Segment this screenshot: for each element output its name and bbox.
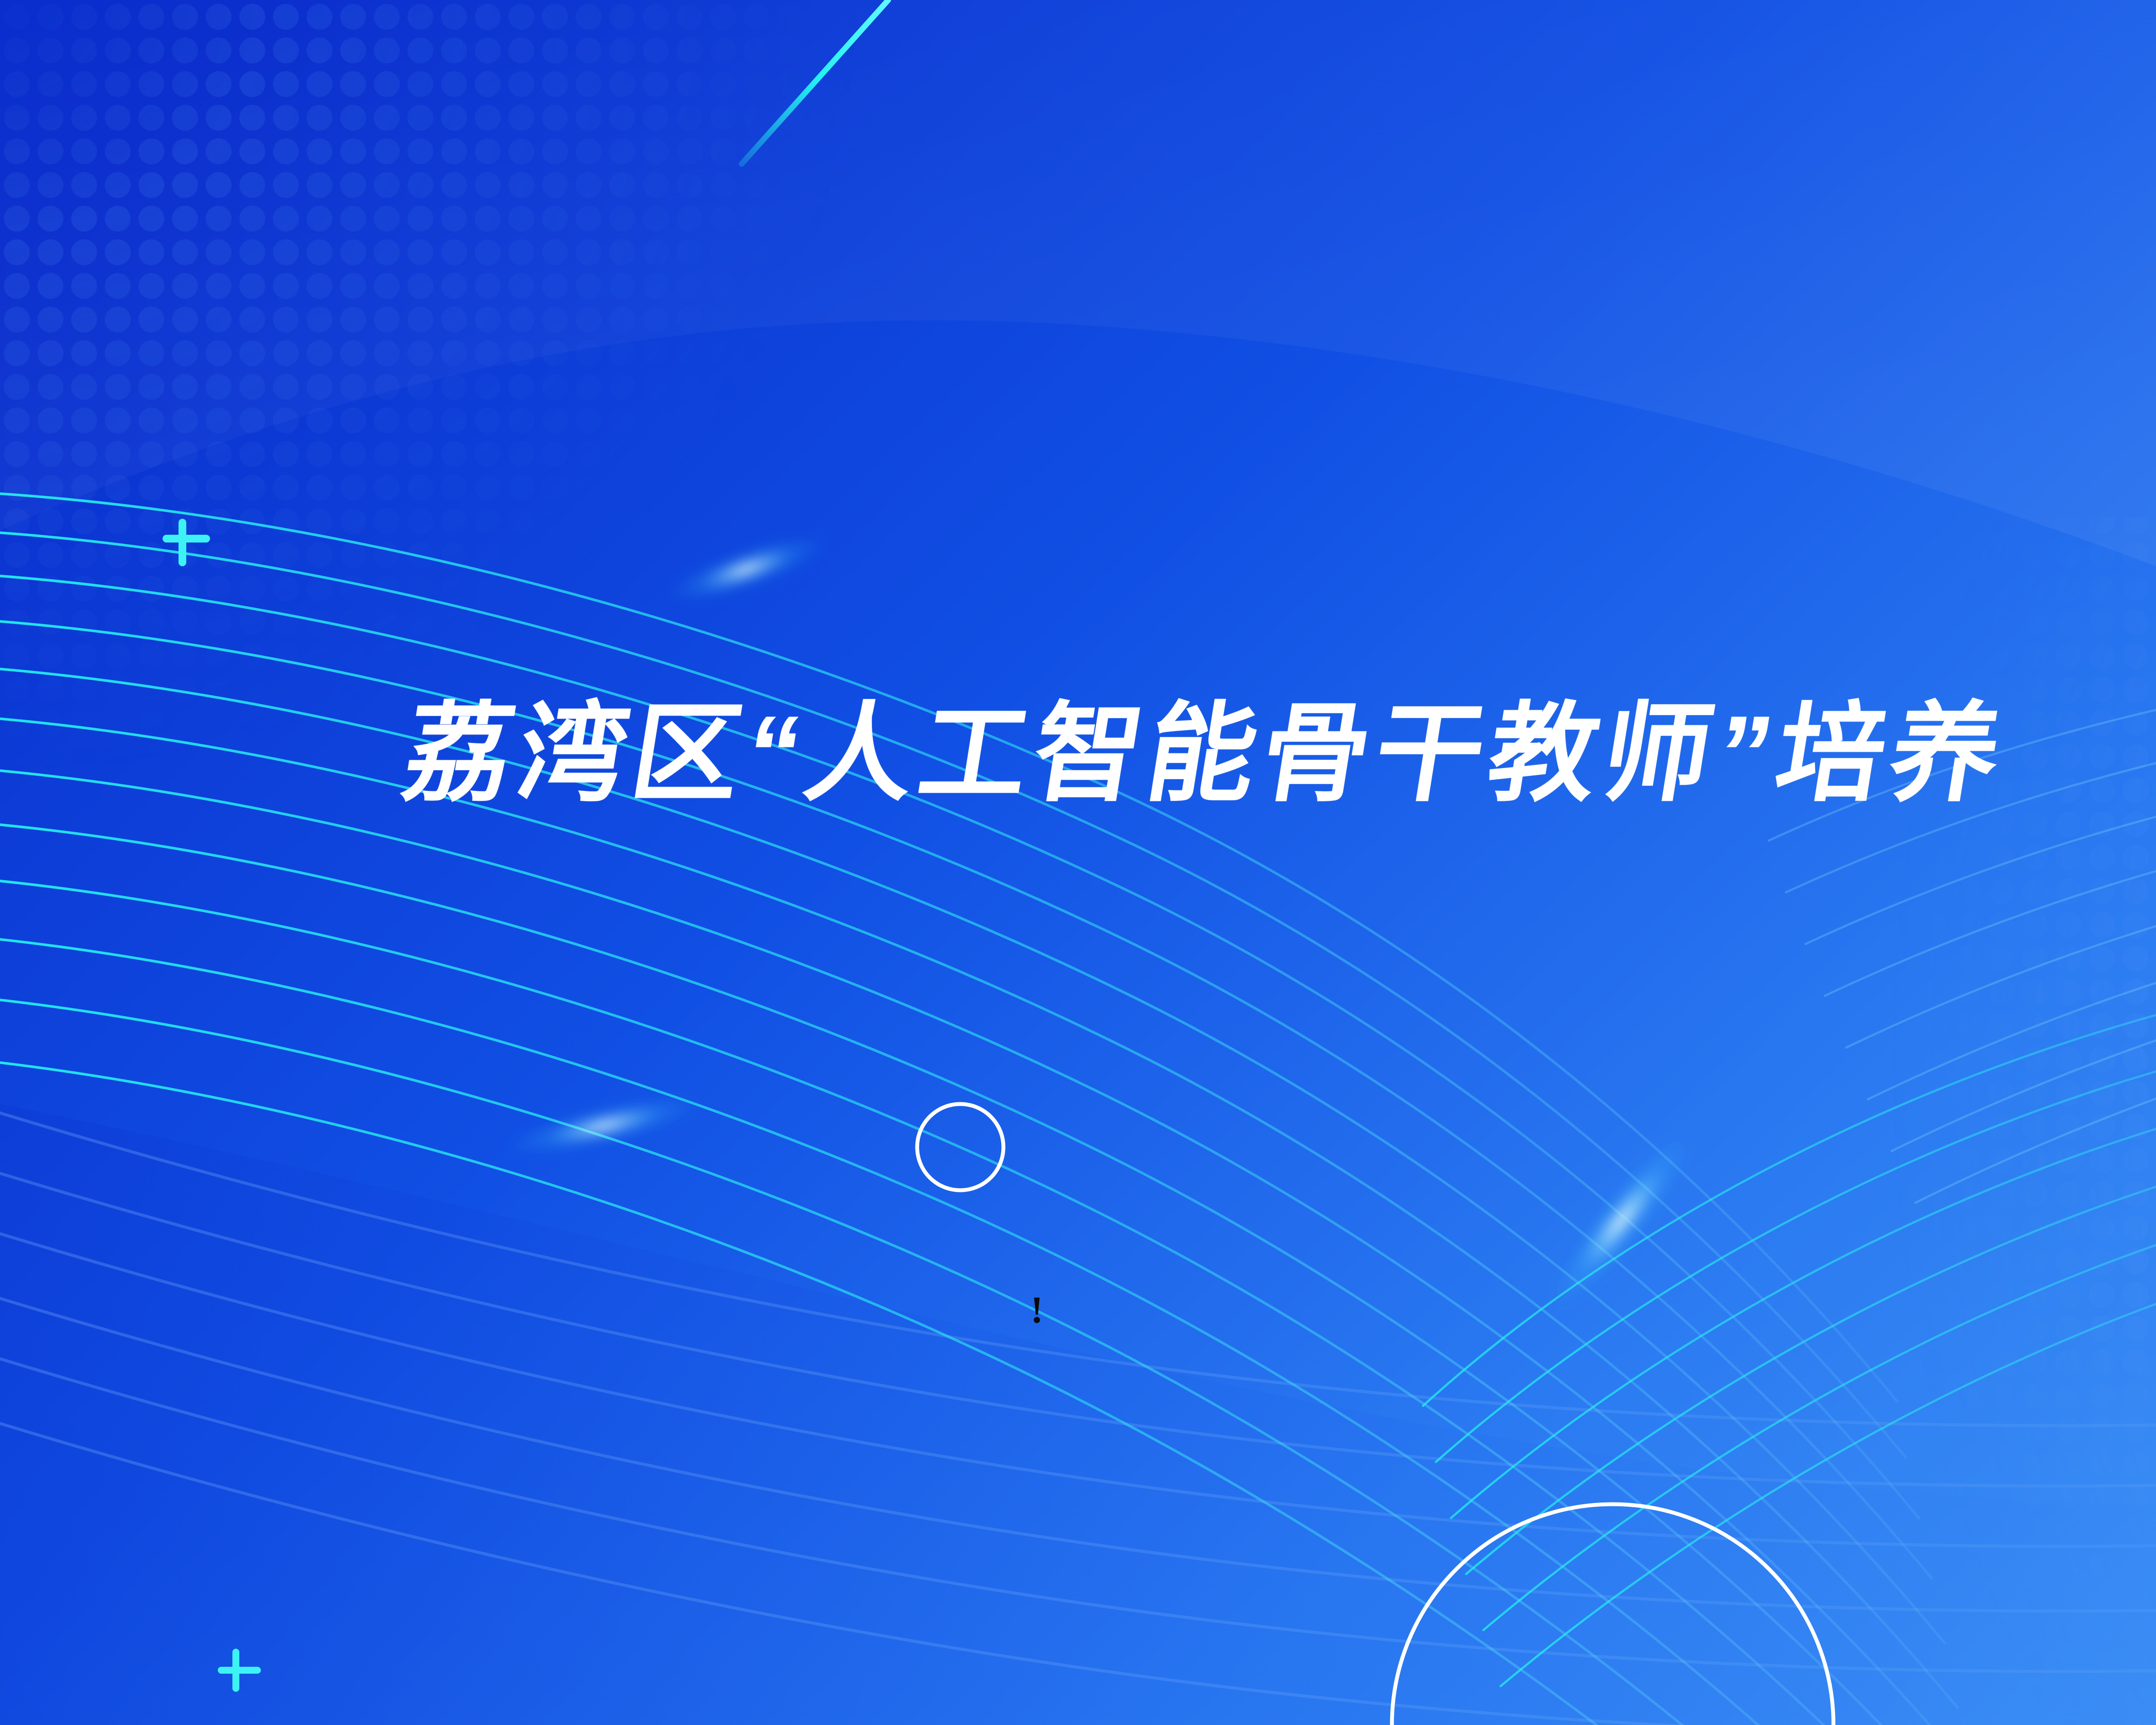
exclamation-artifact-icon: ! [1031,1292,1043,1330]
page-title: 荔湾区“人工智能骨干教师”培养 [395,690,2156,817]
slide-canvas: 荔湾区“人工智能骨干教师”培养 ! [0,0,2156,1725]
title-layer: 荔湾区“人工智能骨干教师”培养 ! [0,0,2156,1725]
